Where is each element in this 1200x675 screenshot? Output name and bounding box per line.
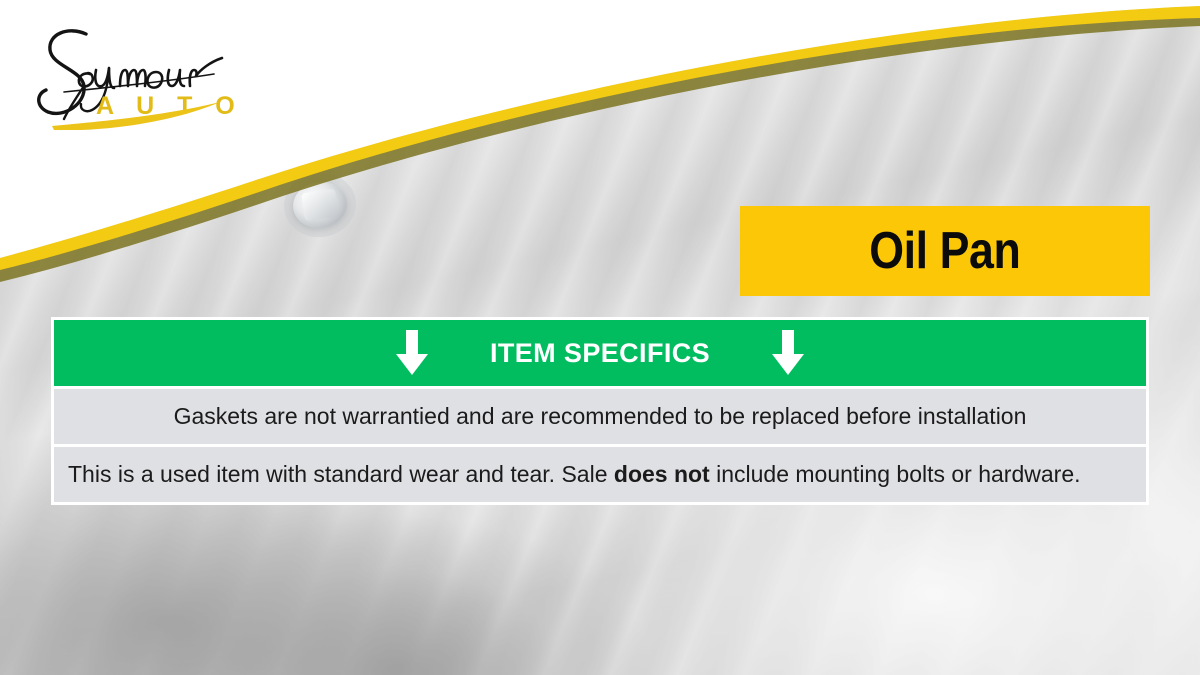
item-specifics-row-condition: This is a used item with standard wear a… [54,444,1146,502]
gasket-disclaimer-text: Gaskets are not warrantied and are recom… [174,403,1027,430]
item-specifics-label: ITEM SPECIFICS [490,338,710,369]
condition-suffix: include mounting bolts or hardware. [710,461,1081,487]
condition-disclaimer-text: This is a used item with standard wear a… [68,461,1081,488]
condition-emphasis: does not [614,461,710,487]
arrow-down-icon-left [394,330,430,376]
product-title-banner: Oil Pan [740,206,1150,296]
arrow-down-icon-right [770,330,806,376]
item-specifics-row-gasket: Gaskets are not warrantied and are recom… [54,386,1146,444]
seymour-auto-logo: A U T O [24,18,244,130]
product-listing-slide: A U T O Oil Pan ITEM SPECIFICS Gas [0,0,1200,675]
item-specifics-header: ITEM SPECIFICS [54,320,1146,386]
condition-prefix: This is a used item with standard wear a… [68,461,614,487]
item-specifics-table: ITEM SPECIFICS Gaskets are not warrantie… [51,317,1149,505]
page-title: Oil Pan [869,225,1020,277]
